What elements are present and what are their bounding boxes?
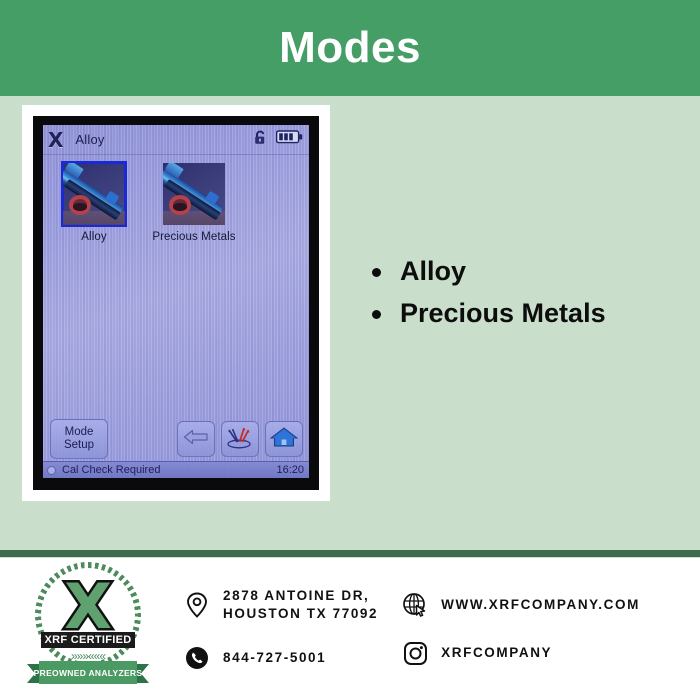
lcd-main-content: Alloy Prec	[43, 155, 309, 417]
bullet-label: Alloy	[400, 251, 466, 293]
modes-bullet-list: Alloy Precious Metals	[372, 251, 606, 335]
mode-setup-label-line2: Setup	[64, 439, 94, 452]
address-text: 2878 ANTOINE DR, HOUSTON TX 77092	[223, 587, 378, 623]
contact-website[interactable]: WWW.XRFCOMPANY.COM	[402, 592, 640, 618]
mode-tile-alloy[interactable]: Alloy	[57, 163, 131, 243]
mode-setup-button[interactable]: Mode Setup	[50, 419, 108, 459]
mode-tile-label: Alloy	[81, 231, 106, 243]
page-title: Modes	[279, 26, 421, 70]
ribbon-center: PREOWNED ANALYZERS	[39, 661, 137, 684]
beam-settings-button[interactable]	[221, 421, 259, 457]
back-arrow-icon	[183, 428, 209, 451]
analyzer-gun-icon	[63, 163, 125, 225]
website-text: WWW.XRFCOMPANY.COM	[441, 596, 640, 614]
badge-x-icon: X	[54, 581, 122, 633]
lcd-footer-status: Cal Check Required 16:20	[43, 461, 309, 478]
ribbon-text: PREOWNED ANALYZERS	[34, 668, 143, 678]
footer-contact-column-right: WWW.XRFCOMPANY.COM XRFCOMPANY	[402, 592, 640, 666]
contact-instagram[interactable]: XRFCOMPANY	[402, 640, 640, 666]
body-content: X Alloy	[0, 96, 700, 548]
lcd-status-bar: X Alloy	[43, 125, 309, 155]
badge-certified-text: XRF CERTIFIED	[41, 632, 135, 648]
device-screenshot-frame: X Alloy	[22, 105, 330, 501]
section-divider-wrap	[0, 548, 700, 558]
lcd-toolbar-right	[177, 421, 303, 457]
bullet-dot-icon	[372, 268, 381, 277]
mode-grid: Alloy Prec	[43, 163, 309, 243]
status-indicator-icon	[47, 466, 56, 475]
list-item: Alloy	[372, 251, 606, 293]
badge-ribbon: PREOWNED ANALYZERS	[27, 661, 149, 686]
contact-phone[interactable]: 844-727-5001	[184, 645, 378, 671]
instagram-text: XRFCOMPANY	[441, 644, 552, 662]
page-footer: X XRF CERTIFIED »»»««« PREOWNED ANALYZER…	[0, 558, 700, 700]
phone-text: 844-727-5001	[223, 649, 326, 667]
analyzer-gun-icon	[163, 163, 225, 225]
xrf-certified-badge-logo: X XRF CERTIFIED »»»««« PREOWNED ANALYZER…	[22, 564, 154, 694]
battery-icon	[276, 130, 303, 149]
xrf-beam-icon	[226, 425, 254, 454]
home-button[interactable]	[265, 421, 303, 457]
home-icon	[270, 426, 298, 453]
bullet-label: Precious Metals	[400, 293, 606, 335]
lcd-status-icons	[252, 129, 303, 151]
brand-x-logo-icon: X	[48, 130, 63, 150]
mode-setup-label-line1: Mode	[65, 426, 94, 439]
lcd-mode-title: Alloy	[75, 132, 104, 147]
page-header: Modes	[0, 0, 700, 96]
device-lcd-screen: X Alloy	[43, 125, 309, 478]
cal-check-status-text: Cal Check Required	[62, 464, 160, 476]
contact-address: 2878 ANTOINE DR, HOUSTON TX 77092	[184, 587, 378, 623]
list-item: Precious Metals	[372, 293, 606, 335]
unlocked-padlock-icon	[252, 129, 269, 151]
bullet-dot-icon	[372, 310, 381, 319]
footer-contact-column-left: 2878 ANTOINE DR, HOUSTON TX 77092 844-72…	[184, 587, 378, 671]
mode-tile-label: Precious Metals	[152, 231, 235, 243]
back-button[interactable]	[177, 421, 215, 457]
location-pin-icon	[184, 592, 210, 618]
footer-contact-info: 2878 ANTOINE DR, HOUSTON TX 77092 844-72…	[154, 587, 682, 671]
device-bezel: X Alloy	[33, 116, 319, 490]
lcd-toolbar: Mode Setup	[43, 417, 309, 461]
section-divider	[0, 550, 700, 557]
phone-icon	[184, 645, 210, 671]
globe-cursor-icon	[402, 592, 428, 618]
mode-tile-precious-metals[interactable]: Precious Metals	[157, 163, 231, 243]
clock-time: 16:20	[276, 464, 304, 476]
instagram-icon	[402, 640, 428, 666]
